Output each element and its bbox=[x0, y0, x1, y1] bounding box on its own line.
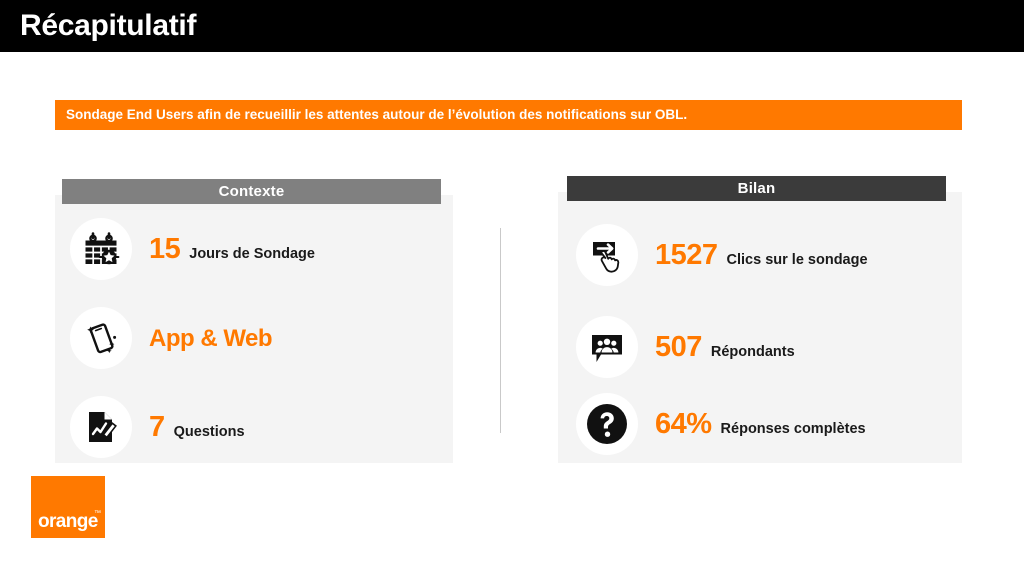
column-divider bbox=[500, 228, 501, 433]
stat-row: App & Web bbox=[70, 307, 281, 369]
trademark-symbol: ™ bbox=[94, 510, 101, 518]
page-title: Récapitulatif bbox=[20, 9, 196, 43]
slide-header-bar: Récapitulatif bbox=[0, 0, 1024, 52]
stat-label: Jours de Sondage bbox=[189, 245, 315, 263]
speech-group-icon bbox=[576, 316, 638, 378]
orange-logo-wordmark: orange bbox=[38, 512, 98, 532]
subtitle-banner: Sondage End Users afin de recueillir les… bbox=[55, 100, 962, 130]
tap-hand-icon bbox=[576, 224, 638, 286]
stat-value: 7 bbox=[149, 413, 165, 442]
stat-value: 507 bbox=[655, 333, 702, 362]
mobile-sparkle-icon bbox=[70, 307, 132, 369]
orange-logo: orange ™ bbox=[31, 476, 105, 538]
stat-value: 1527 bbox=[655, 241, 718, 270]
slide-recapitulatif: Récapitulatif Sondage End Users afin de … bbox=[0, 0, 1024, 574]
stat-value: 64% bbox=[655, 410, 712, 439]
stat-row: 64% Réponses complètes bbox=[576, 393, 866, 455]
stat-row: 7 Questions bbox=[70, 396, 245, 458]
stat-value: App & Web bbox=[149, 324, 272, 353]
context-panel-heading: Contexte bbox=[62, 179, 441, 204]
bilan-panel-heading: Bilan bbox=[567, 176, 946, 201]
stat-label: Répondants bbox=[711, 343, 795, 361]
stat-label: Questions bbox=[174, 423, 245, 441]
document-chart-pen-icon bbox=[70, 396, 132, 458]
stat-label: Clics sur le sondage bbox=[727, 251, 868, 269]
subtitle-banner-text: Sondage End Users afin de recueillir les… bbox=[55, 107, 687, 123]
question-mark-icon bbox=[576, 393, 638, 455]
stat-label: Réponses complètes bbox=[721, 420, 866, 438]
stat-row: 15 Jours de Sondage bbox=[70, 218, 315, 280]
calendar-icon bbox=[70, 218, 132, 280]
stat-value: 15 bbox=[149, 235, 180, 264]
stat-row: 507 Répondants bbox=[576, 316, 795, 378]
stat-row: 1527 Clics sur le sondage bbox=[576, 224, 868, 286]
